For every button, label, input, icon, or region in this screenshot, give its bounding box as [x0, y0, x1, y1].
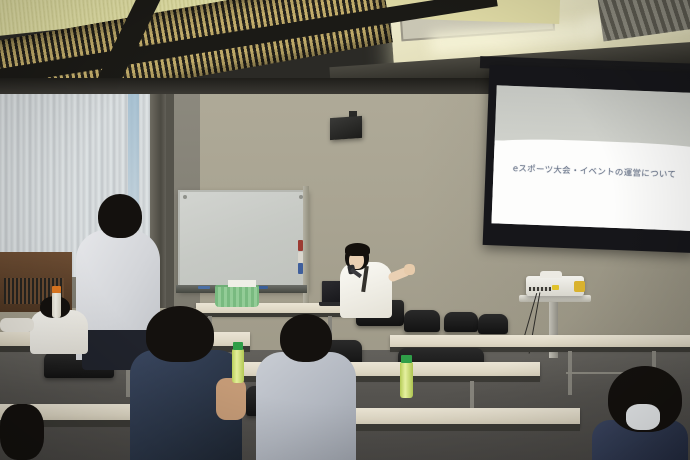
basket-papers — [228, 280, 256, 287]
chair — [404, 310, 440, 332]
slide-lower-area — [491, 138, 690, 231]
face-mask-icon — [626, 404, 660, 430]
attendee-navy-tshirt-head — [146, 306, 214, 362]
attendee-gray-shirt-torso — [256, 352, 356, 460]
attendee-arm — [0, 318, 34, 332]
projector-stand-top — [519, 295, 591, 302]
whiteboard-corner — [183, 195, 187, 199]
projection-screen-surface: eスポーツ大会・イベントの運営について — [491, 85, 690, 231]
attendee-gray-shirt-head — [280, 314, 332, 362]
speaker-icon — [330, 116, 362, 140]
presenter-hand — [404, 264, 415, 275]
attendee-head-partial — [0, 404, 44, 460]
blue-marker-icon — [198, 286, 210, 289]
classroom-photo: eスポーツ大会・イベントの運営について — [0, 0, 690, 460]
green-tea-bottle — [400, 362, 413, 398]
marker-holder — [298, 240, 304, 274]
wall-edge-shadow — [166, 58, 174, 308]
chair — [444, 312, 478, 332]
projector-top — [540, 271, 562, 278]
blue-marker-icon — [298, 263, 303, 274]
bottle-cap — [401, 355, 412, 363]
white-marker-icon — [298, 252, 303, 263]
whiteboard — [178, 190, 308, 292]
projection-screen: eスポーツ大会・イベントの運営について — [483, 65, 690, 253]
orange-cap-bottle — [52, 292, 61, 318]
attendee-standing-head — [98, 194, 142, 238]
green-tea-bottle — [232, 349, 244, 383]
red-marker-icon — [298, 240, 303, 251]
bottle-cap — [52, 286, 61, 293]
presenter-hair — [345, 243, 370, 256]
chair — [478, 314, 508, 334]
green-storage-basket — [215, 285, 259, 307]
attendee-navy-arm — [216, 378, 246, 420]
projector-ports — [529, 287, 551, 291]
projector-connector — [552, 285, 559, 290]
projector-lens-icon — [574, 281, 585, 292]
bottle-cap — [233, 342, 243, 350]
